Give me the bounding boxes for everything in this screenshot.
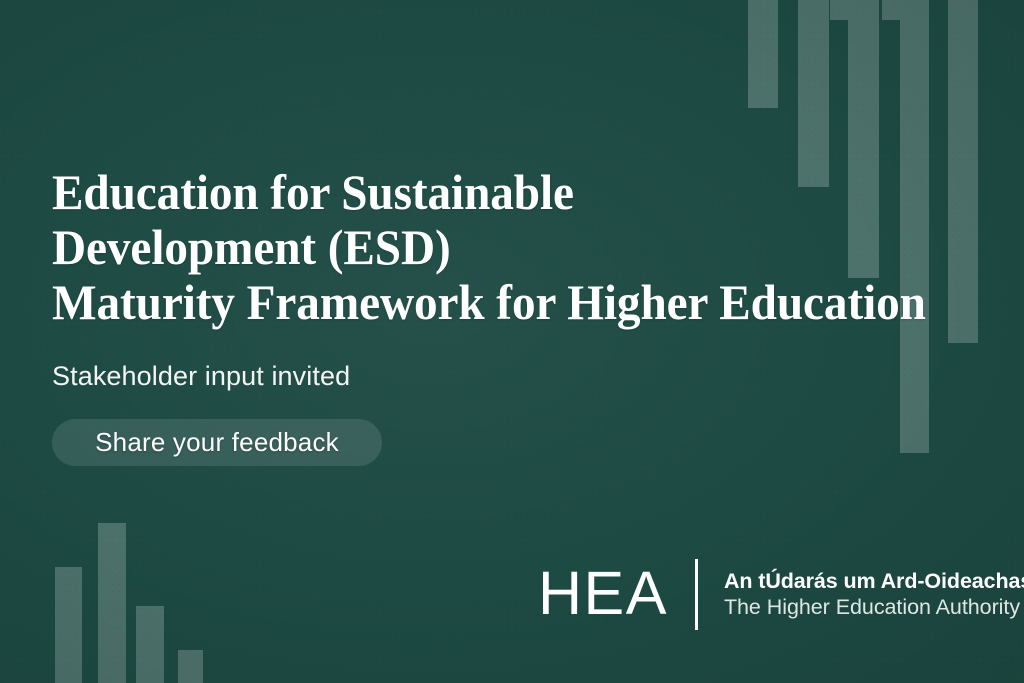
headline-line-1: Education for Sustainable xyxy=(52,165,884,220)
headline-line-2: Development (ESD) xyxy=(52,220,884,275)
logo-divider xyxy=(695,559,698,630)
logo-name-irish: An tÚdarás um Ard-Oideachas xyxy=(724,568,1024,594)
headline-line-3: Maturity Framework for Higher Education xyxy=(52,275,884,330)
hea-logo-mark: HEA xyxy=(538,563,668,626)
subtitle: Stakeholder input invited xyxy=(52,360,350,392)
promotional-banner: Education for Sustainable Development (E… xyxy=(0,0,1024,683)
logo-name-english: The Higher Education Authority xyxy=(724,594,1024,621)
logo-wordmark: An tÚdarás um Ard-Oideachas The Higher E… xyxy=(724,568,1024,621)
hea-logo: HEA An tÚdarás um Ard-Oideachas The High… xyxy=(538,552,1024,636)
share-feedback-button[interactable]: Share your feedback xyxy=(52,419,382,466)
headline: Education for Sustainable Development (E… xyxy=(52,165,884,330)
decor-bar-top-7 xyxy=(948,0,978,343)
